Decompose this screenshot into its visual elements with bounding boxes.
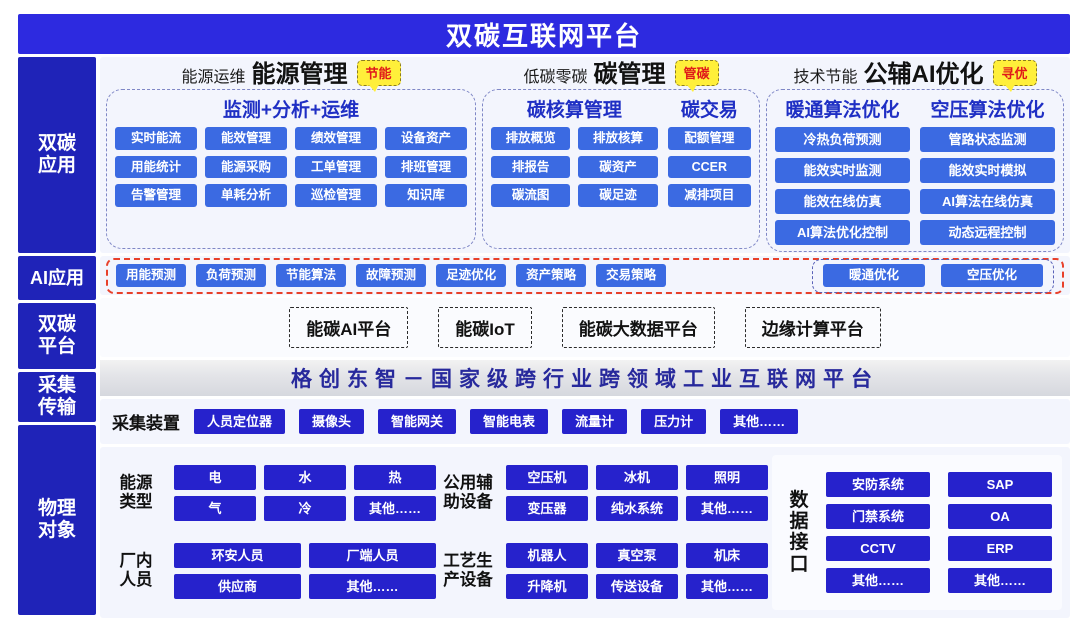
hvac-subcolumn: 暖通算法优化 冷热负荷预测能效实时监测能效在线仿真AI算法优化控制 [775, 94, 910, 245]
carbon-accounting-grid: 排放概览排放核算排报告碳资产碳流图碳足迹 [491, 127, 658, 207]
carbon-subtitle: 低碳零碳 [523, 63, 587, 89]
ai-application-button[interactable]: 节能算法 [276, 264, 346, 287]
carbon-accounting-button[interactable]: 碳流图 [491, 184, 570, 207]
air-compression-button-grid: 管路状态监测能效实时模拟AI算法在线仿真动态远程控制 [920, 127, 1055, 245]
carbon-accounting-subtitle: 碳核算管理 [491, 95, 658, 122]
plant-personnel-button[interactable]: 厂端人员 [309, 543, 436, 568]
energy-type-button[interactable]: 气 [174, 496, 256, 521]
ai-title: 公辅AI优化 [864, 54, 984, 89]
collection-device-button[interactable]: 其他…… [720, 409, 798, 434]
collection-device-button[interactable]: 智能电表 [470, 409, 548, 434]
energy-title: 能源管理 [252, 54, 348, 89]
data-interface-button[interactable]: SAP [948, 472, 1052, 497]
utility-equipment-button[interactable]: 变压器 [506, 496, 588, 521]
carbon-accounting-button[interactable]: 排放概览 [491, 127, 570, 150]
diagram-root: 双碳互联网平台 双碳应用 AI应用 双碳平台 采集传输 物理对象 [0, 0, 1080, 618]
platform-box[interactable]: 能碳AI平台 [289, 307, 408, 348]
data-interface-button[interactable]: OA [948, 504, 1052, 529]
energy-app-button[interactable]: 用能统计 [115, 156, 197, 179]
collection-device-button[interactable]: 人员定位器 [194, 409, 285, 434]
ai-optimization-header: 技术节能 公辅AI优化 寻优 [766, 59, 1064, 89]
air-compression-button[interactable]: 能效实时模拟 [920, 158, 1055, 183]
ai-optimization-group: 技术节能 公辅AI优化 寻优 暖通算法优化 冷热负荷预测能效实时监测能效在线仿真… [766, 59, 1064, 249]
sidebar-item-dual-carbon-platform[interactable]: 双碳平台 [18, 303, 96, 369]
sidebar-item-physical-objects[interactable]: 物理对象 [18, 425, 96, 615]
energy-app-button[interactable]: 实时能流 [115, 127, 197, 150]
utility-equipment-section: 公用辅助设备 空压机冰机照明变压器纯水系统其他…… [440, 465, 768, 521]
carbon-trading-button[interactable]: CCER [668, 156, 751, 179]
platform-box[interactable]: 能碳大数据平台 [562, 307, 715, 348]
energy-type-label: 能源类型 [108, 474, 164, 512]
energy-management-group: 能源运维 能源管理 节能 监测+分析+运维 实时能流能效管理绩效管理设备资产用能… [106, 59, 476, 249]
energy-app-button[interactable]: 设备资产 [385, 127, 467, 150]
ai-application-button[interactable]: 故障预测 [356, 264, 426, 287]
collection-device-list: 人员定位器摄像头智能网关智能电表流量计压力计其他…… [194, 409, 798, 434]
energy-type-button[interactable]: 电 [174, 465, 256, 490]
data-interface-panel: 数据接口 安防系统SAP门禁系统OACCTVERP其他……其他…… [772, 455, 1062, 610]
energy-app-button[interactable]: 工单管理 [295, 156, 377, 179]
ai-application-button[interactable]: 足迹优化 [436, 264, 506, 287]
hvac-subtitle: 暖通算法优化 [775, 95, 910, 122]
hvac-button[interactable]: 能效在线仿真 [775, 189, 910, 214]
utility-equipment-button[interactable]: 空压机 [506, 465, 588, 490]
process-equipment-button[interactable]: 传送设备 [596, 574, 678, 599]
utility-equipment-grid: 空压机冰机照明变压器纯水系统其他…… [506, 465, 768, 521]
carbon-trading-button[interactable]: 配额管理 [668, 127, 751, 150]
sidebar-label: 物理对象 [38, 498, 76, 542]
page-title: 双碳互联网平台 [446, 16, 642, 53]
energy-app-button[interactable]: 单耗分析 [205, 184, 287, 207]
collection-device-button[interactable]: 流量计 [562, 409, 627, 434]
energy-type-button[interactable]: 冷 [264, 496, 346, 521]
sidebar-label: 双碳平台 [38, 314, 76, 358]
ai-application-button[interactable]: 负荷预测 [196, 264, 266, 287]
ai-applications-row: 用能预测负荷预测节能算法故障预测足迹优化资产策略交易策略 暖通优化空压优化 [100, 256, 1070, 295]
platform-row: 能碳AI平台能碳IoT能碳大数据平台边缘计算平台 [100, 298, 1070, 357]
air-compression-button[interactable]: AI算法在线仿真 [920, 189, 1055, 214]
utility-equipment-button[interactable]: 纯水系统 [596, 496, 678, 521]
data-interface-button[interactable]: CCTV [826, 536, 930, 561]
ai-optimization-subgroup: 暖通优化空压优化 [812, 259, 1054, 293]
energy-subtitle: 能源运维 [181, 63, 245, 89]
air-compression-subcolumn: 空压算法优化 管路状态监测能效实时模拟AI算法在线仿真动态远程控制 [920, 94, 1055, 245]
physical-objects-row: 能源类型 电水热气冷其他…… 厂内人员 环安人员厂端人员供应商其他…… 公用辅助… [100, 447, 1070, 618]
energy-panel-subtitle: 监测+分析+运维 [115, 95, 467, 122]
ai-application-button[interactable]: 资产策略 [516, 264, 586, 287]
ai-badge: 寻优 [993, 60, 1037, 86]
hvac-button-grid: 冷热负荷预测能效实时监测能效在线仿真AI算法优化控制 [775, 127, 910, 245]
energy-app-button[interactable]: 绩效管理 [295, 127, 377, 150]
platform-box[interactable]: 边缘计算平台 [745, 307, 881, 348]
data-interface-button[interactable]: 门禁系统 [826, 504, 930, 529]
sidebar-item-dual-carbon-apps[interactable]: 双碳应用 [18, 57, 96, 253]
energy-panel: 监测+分析+运维 实时能流能效管理绩效管理设备资产用能统计能源采购工单管理排班管… [106, 89, 476, 249]
data-interface-button[interactable]: 其他…… [826, 568, 930, 593]
physical-middle-block: 公用辅助设备 空压机冰机照明变压器纯水系统其他…… 工艺生产设备 机器人真空泵机… [440, 455, 768, 610]
data-interface-button[interactable]: 其他…… [948, 568, 1052, 593]
process-equipment-section: 工艺生产设备 机器人真空泵机床升降机传送设备其他…… [440, 543, 768, 599]
applications-row: 能源运维 能源管理 节能 监测+分析+运维 实时能流能效管理绩效管理设备资产用能… [100, 57, 1070, 253]
energy-type-button[interactable]: 水 [264, 465, 346, 490]
ai-optimization-button[interactable]: 空压优化 [941, 264, 1043, 287]
energy-app-button[interactable]: 排班管理 [385, 156, 467, 179]
air-compression-button[interactable]: 动态远程控制 [920, 220, 1055, 245]
data-interface-button[interactable]: ERP [948, 536, 1052, 561]
collection-label: 采集装置 [112, 409, 180, 434]
brand-banner: 格创东智－国家级跨行业跨领域工业互联网平台 [100, 360, 1070, 396]
energy-management-header: 能源运维 能源管理 节能 [106, 59, 476, 89]
energy-app-button[interactable]: 巡检管理 [295, 184, 377, 207]
energy-type-section: 能源类型 电水热气冷其他…… [108, 465, 436, 521]
layer-content-column: 能源运维 能源管理 节能 监测+分析+运维 实时能流能效管理绩效管理设备资产用能… [100, 57, 1070, 618]
hvac-button[interactable]: AI算法优化控制 [775, 220, 910, 245]
energy-app-button[interactable]: 知识库 [385, 184, 467, 207]
carbon-trading-grid: 配额管理CCER减排项目 [668, 127, 751, 207]
platform-box[interactable]: 能碳IoT [438, 307, 532, 348]
sidebar-label: AI应用 [30, 268, 84, 289]
energy-app-button[interactable]: 能效管理 [205, 127, 287, 150]
ai-subtitle: 技术节能 [793, 63, 857, 89]
sidebar-item-ai-apps[interactable]: AI应用 [18, 256, 96, 300]
energy-type-button[interactable]: 其他…… [354, 496, 436, 521]
air-compression-subtitle: 空压算法优化 [920, 95, 1055, 122]
utility-equipment-button[interactable]: 其他…… [686, 496, 768, 521]
carbon-panel: 碳核算管理 排放概览排放核算排报告碳资产碳流图碳足迹 碳交易 配额管理CCER减… [482, 89, 760, 249]
utility-equipment-button[interactable]: 照明 [686, 465, 768, 490]
ai-applications-list: 用能预测负荷预测节能算法故障预测足迹优化资产策略交易策略 [116, 264, 666, 287]
sidebar-label: 采集传输 [38, 375, 76, 419]
energy-subcolumn: 监测+分析+运维 实时能流能效管理绩效管理设备资产用能统计能源采购工单管理排班管… [115, 94, 467, 242]
carbon-management-group: 低碳零碳 碳管理 管碳 碳核算管理 排放概览排放核算排报告碳资产碳流图碳足迹 碳… [482, 59, 760, 249]
carbon-accounting-button[interactable]: 排报告 [491, 156, 570, 179]
plant-personnel-label: 厂内人员 [108, 552, 164, 590]
carbon-accounting-subcolumn: 碳核算管理 排放概览排放核算排报告碳资产碳流图碳足迹 [491, 94, 658, 242]
ai-optimization-list: 暖通优化空压优化 [823, 264, 1043, 287]
carbon-accounting-button[interactable]: 碳足迹 [578, 184, 657, 207]
process-equipment-grid: 机器人真空泵机床升降机传送设备其他…… [506, 543, 768, 599]
process-equipment-button[interactable]: 真空泵 [596, 543, 678, 568]
sidebar-item-collection-transmission[interactable]: 采集传输 [18, 372, 96, 422]
plant-personnel-button[interactable]: 供应商 [174, 574, 301, 599]
carbon-accounting-button[interactable]: 碳资产 [578, 156, 657, 179]
brand-banner-text: 格创东智－国家级跨行业跨领域工业互联网平台 [291, 363, 879, 393]
plant-personnel-button[interactable]: 环安人员 [174, 543, 301, 568]
ai-optimization-button[interactable]: 暖通优化 [823, 264, 925, 287]
collection-device-button[interactable]: 摄像头 [299, 409, 364, 434]
plant-personnel-button[interactable]: 其他…… [309, 574, 436, 599]
ai-application-button[interactable]: 用能预测 [116, 264, 186, 287]
carbon-accounting-button[interactable]: 排放核算 [578, 127, 657, 150]
carbon-trading-subcolumn: 碳交易 配额管理CCER减排项目 [668, 94, 751, 242]
carbon-trading-button[interactable]: 减排项目 [668, 184, 751, 207]
ai-panel: 暖通算法优化 冷热负荷预测能效实时监测能效在线仿真AI算法优化控制 空压算法优化… [766, 89, 1064, 252]
energy-app-button[interactable]: 能源采购 [205, 156, 287, 179]
ai-applications-container: 用能预测负荷预测节能算法故障预测足迹优化资产策略交易策略 暖通优化空压优化 [106, 258, 1064, 294]
layer-label-column: 双碳应用 AI应用 双碳平台 采集传输 物理对象 [18, 57, 96, 618]
ai-application-button[interactable]: 交易策略 [596, 264, 666, 287]
carbon-trading-subtitle: 碳交易 [668, 95, 751, 122]
utility-equipment-label: 公用辅助设备 [440, 474, 496, 512]
process-equipment-button[interactable]: 机器人 [506, 543, 588, 568]
carbon-badge: 管碳 [675, 60, 719, 86]
data-interface-label: 数据接口 [782, 490, 816, 575]
sidebar-label: 双碳应用 [38, 133, 76, 177]
process-equipment-button[interactable]: 升降机 [506, 574, 588, 599]
energy-badge: 节能 [357, 60, 401, 86]
collection-row: 采集装置 人员定位器摄像头智能网关智能电表流量计压力计其他…… [100, 399, 1070, 444]
process-equipment-label: 工艺生产设备 [440, 552, 496, 590]
process-equipment-button[interactable]: 其他…… [686, 574, 768, 599]
energy-button-grid: 实时能流能效管理绩效管理设备资产用能统计能源采购工单管理排班管理告警管理单耗分析… [115, 127, 467, 207]
collection-device-button[interactable]: 压力计 [641, 409, 706, 434]
data-interface-grid: 安防系统SAP门禁系统OACCTVERP其他……其他…… [826, 472, 1052, 593]
process-equipment-button[interactable]: 机床 [686, 543, 768, 568]
plant-personnel-section: 厂内人员 环安人员厂端人员供应商其他…… [108, 543, 436, 599]
energy-type-grid: 电水热气冷其他…… [174, 465, 436, 521]
carbon-title: 碳管理 [594, 54, 666, 89]
hvac-button[interactable]: 冷热负荷预测 [775, 127, 910, 152]
page-title-bar: 双碳互联网平台 [18, 14, 1070, 54]
carbon-management-header: 低碳零碳 碳管理 管碳 [482, 59, 760, 89]
energy-type-button[interactable]: 热 [354, 465, 436, 490]
air-compression-button[interactable]: 管路状态监测 [920, 127, 1055, 152]
hvac-button[interactable]: 能效实时监测 [775, 158, 910, 183]
architecture-board: 双碳应用 AI应用 双碳平台 采集传输 物理对象 能源运维 [18, 57, 1070, 618]
utility-equipment-button[interactable]: 冰机 [596, 465, 678, 490]
physical-left-block: 能源类型 电水热气冷其他…… 厂内人员 环安人员厂端人员供应商其他…… [108, 455, 436, 610]
collection-device-button[interactable]: 智能网关 [378, 409, 456, 434]
energy-app-button[interactable]: 告警管理 [115, 184, 197, 207]
plant-personnel-grid: 环安人员厂端人员供应商其他…… [174, 543, 436, 599]
data-interface-button[interactable]: 安防系统 [826, 472, 930, 497]
